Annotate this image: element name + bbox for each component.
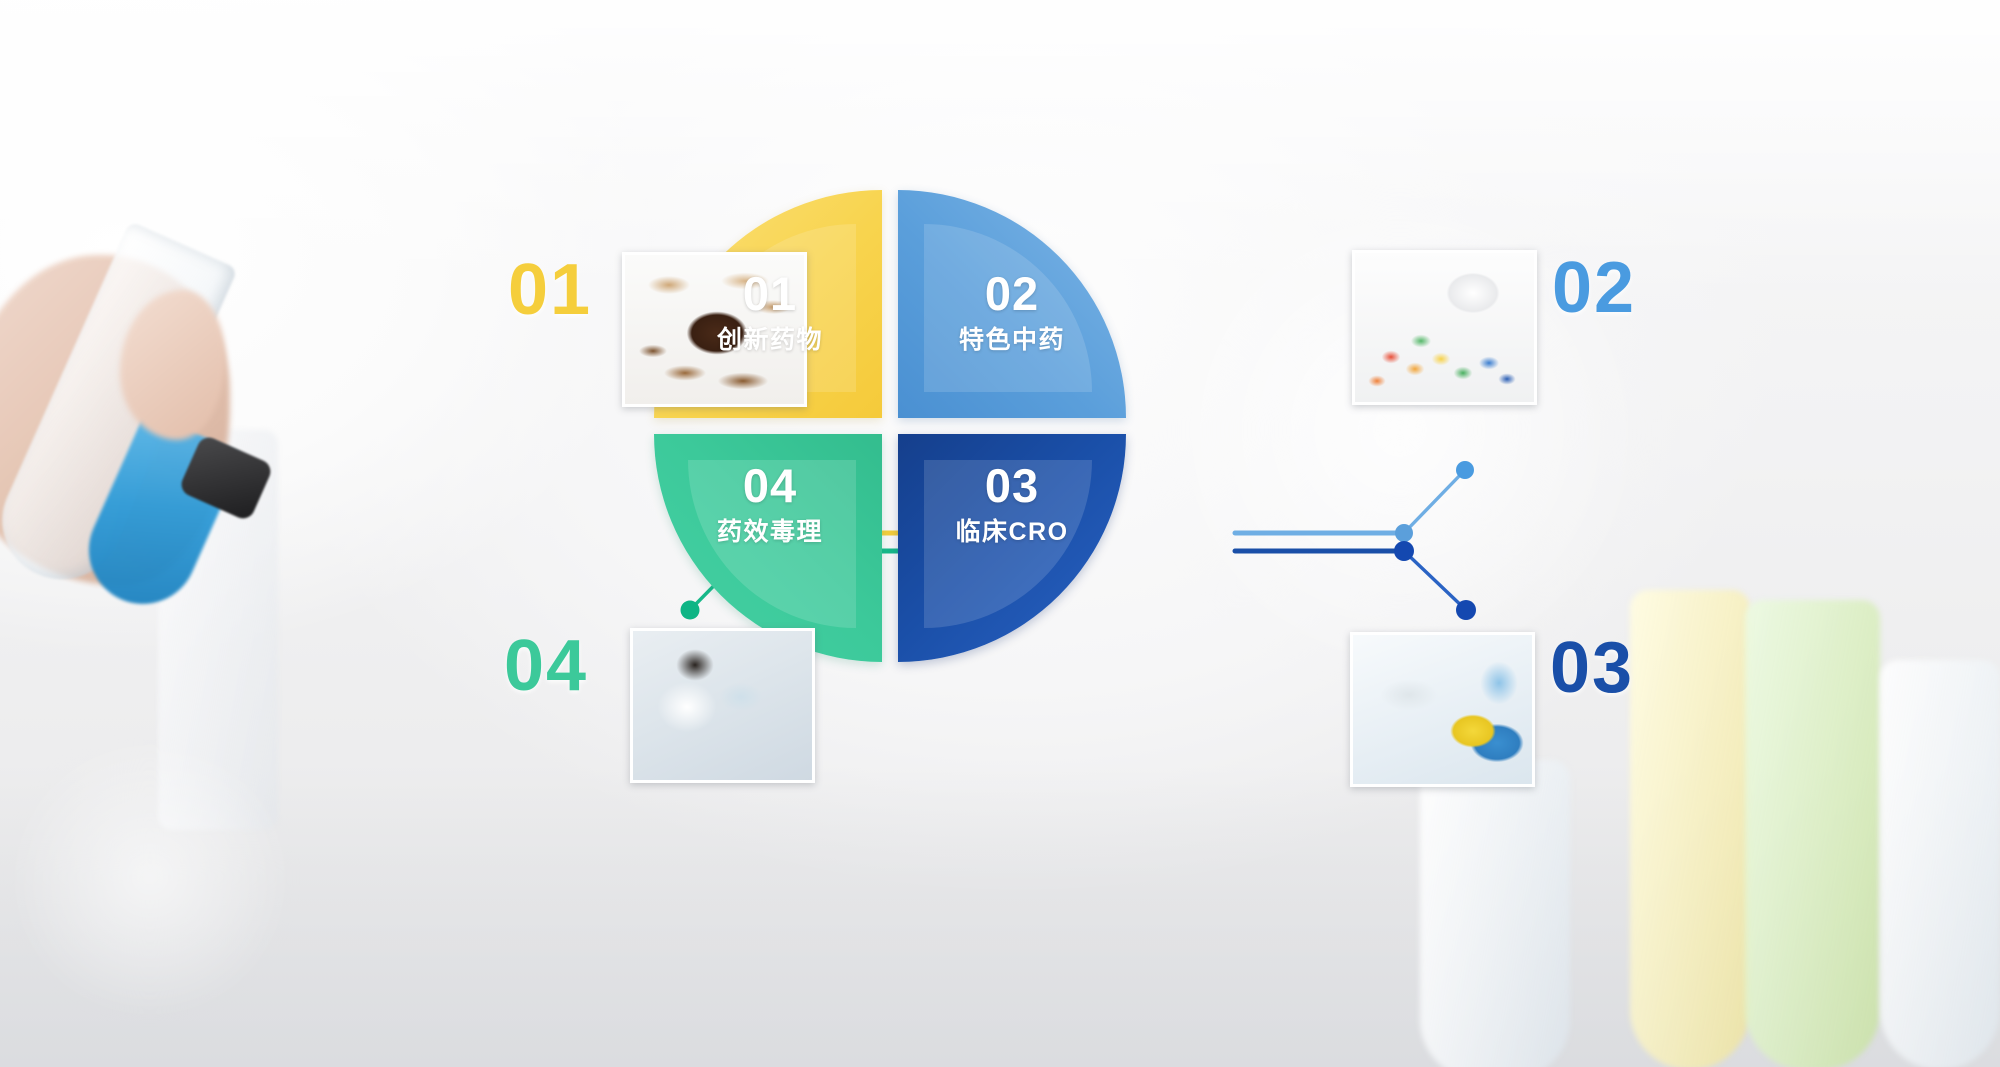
- researcher-lab-bench-image: [633, 631, 812, 780]
- thumbnail-02-pills[interactable]: [1352, 250, 1537, 405]
- outer-number-03: 03: [1550, 632, 1634, 704]
- connector-03-diagonal: [1404, 551, 1466, 610]
- quadrant-03-clinical-cro[interactable]: [898, 434, 1126, 662]
- outer-number-04: 04: [504, 630, 588, 702]
- thumbnail-01-herbal-medicine[interactable]: [622, 252, 807, 407]
- gloved-hands-pipetting-image: [1353, 635, 1532, 784]
- outer-number-01: 01: [508, 254, 592, 326]
- connector-02-diagonal: [1404, 470, 1465, 533]
- pills-and-bottle-image: [1355, 253, 1534, 402]
- connector-03-group: [1235, 541, 1476, 620]
- thumbnail-03-clinical-lab[interactable]: [1350, 632, 1535, 787]
- connector-02-junction-dot: [1395, 524, 1413, 542]
- outer-number-02: 02: [1552, 252, 1636, 324]
- connector-03-junction-dot: [1394, 541, 1414, 561]
- connector-02-endpoint-dot: [1456, 461, 1474, 479]
- connector-03-endpoint-dot: [1456, 600, 1476, 620]
- infographic-canvas: 01 创新药物 02 特色中药 04 药效毒理 03 临床CRO 01 02 0…: [0, 0, 2000, 1067]
- herbal-roots-image: [625, 255, 804, 404]
- quadrant-02-characteristic-tcm[interactable]: [898, 190, 1126, 418]
- connector-02-group: [1235, 461, 1474, 542]
- thumbnail-04-researcher[interactable]: [630, 628, 815, 783]
